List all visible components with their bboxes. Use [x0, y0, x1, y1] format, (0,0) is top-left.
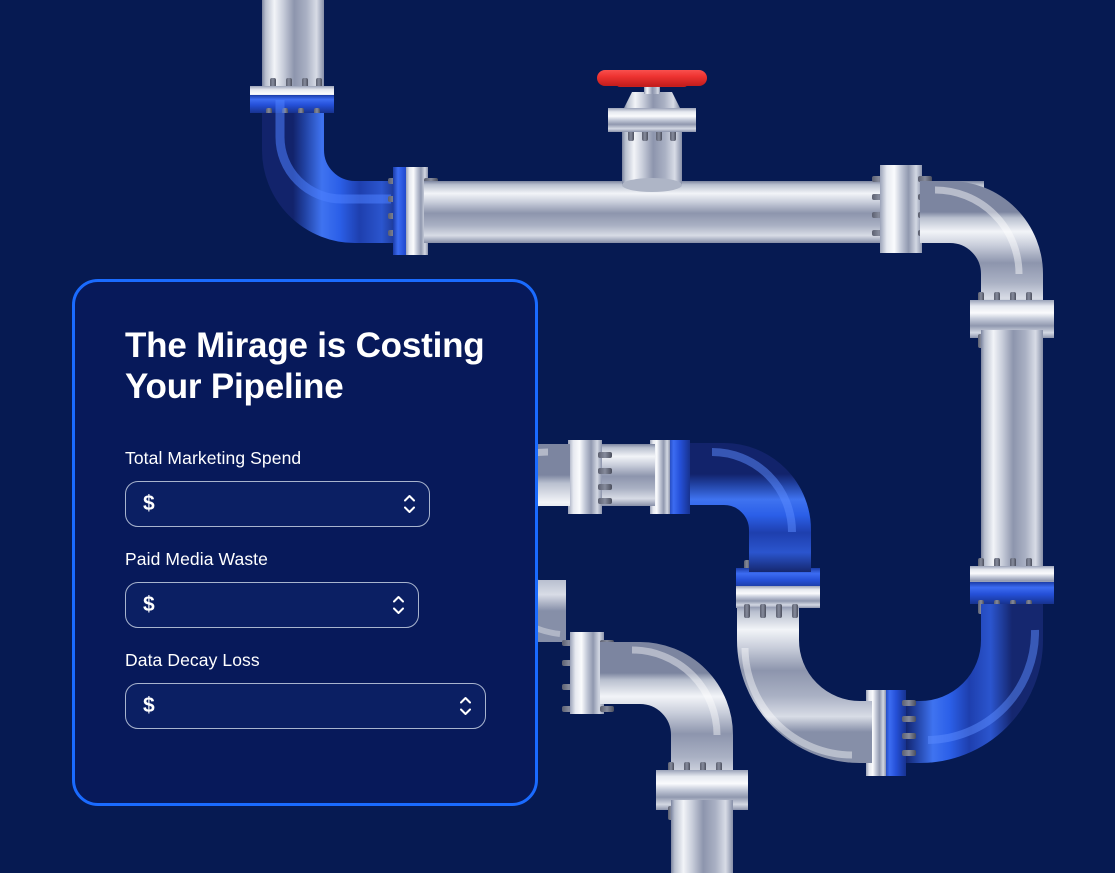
chevron-up-icon[interactable] — [404, 494, 415, 501]
input-paid-media-waste[interactable] — [126, 583, 418, 627]
page-root: The Mirage is Costing Your Pipeline Tota… — [0, 0, 1115, 873]
valve-handle-icon — [597, 70, 707, 86]
blue-u-bend-lower-right — [905, 604, 1035, 740]
stepper-chevrons-icon[interactable] — [393, 595, 404, 614]
page-title: The Mirage is Costing Your Pipeline — [125, 326, 485, 408]
chevron-up-icon[interactable] — [460, 696, 471, 703]
blue-elbow-center — [686, 452, 792, 572]
input-total-marketing-spend[interactable] — [126, 482, 429, 526]
chevron-down-icon[interactable] — [404, 506, 415, 513]
flange-u-bend-mid — [866, 690, 916, 776]
valve-with-red-handle — [597, 70, 707, 192]
s-curve-lower-bend — [600, 650, 717, 790]
input-data-decay-loss[interactable] — [126, 684, 485, 728]
field-total-marketing-spend: Total Marketing Spend $ — [125, 448, 485, 527]
stepper-chevrons-icon[interactable] — [404, 494, 415, 513]
vertical-pipe-top-left — [262, 0, 324, 90]
vertical-pipe-bottom-center — [671, 800, 733, 873]
chevron-down-icon[interactable] — [393, 607, 404, 614]
field-data-decay-loss: Data Decay Loss $ — [125, 650, 485, 729]
label-paid-media-waste: Paid Media Waste — [125, 549, 485, 570]
field-paid-media-waste: Paid Media Waste $ — [125, 549, 485, 628]
vertical-pipe-right — [981, 330, 1043, 580]
stepper-chevrons-icon[interactable] — [460, 696, 471, 715]
input-shell-data-decay-loss[interactable]: $ — [125, 683, 486, 729]
label-data-decay-loss: Data Decay Loss — [125, 650, 485, 671]
chevron-down-icon[interactable] — [460, 708, 471, 715]
chevron-up-icon[interactable] — [393, 595, 404, 602]
input-shell-paid-media-waste[interactable]: $ — [125, 582, 419, 628]
input-shell-total-marketing-spend[interactable]: $ — [125, 481, 430, 527]
blue-elbow-upper-left — [280, 100, 404, 212]
pipeline-calculator-card: The Mirage is Costing Your Pipeline Tota… — [72, 279, 538, 806]
elbow-top-right — [920, 190, 1019, 310]
label-total-marketing-spend: Total Marketing Spend — [125, 448, 485, 469]
silver-u-bend-lower — [745, 604, 872, 755]
